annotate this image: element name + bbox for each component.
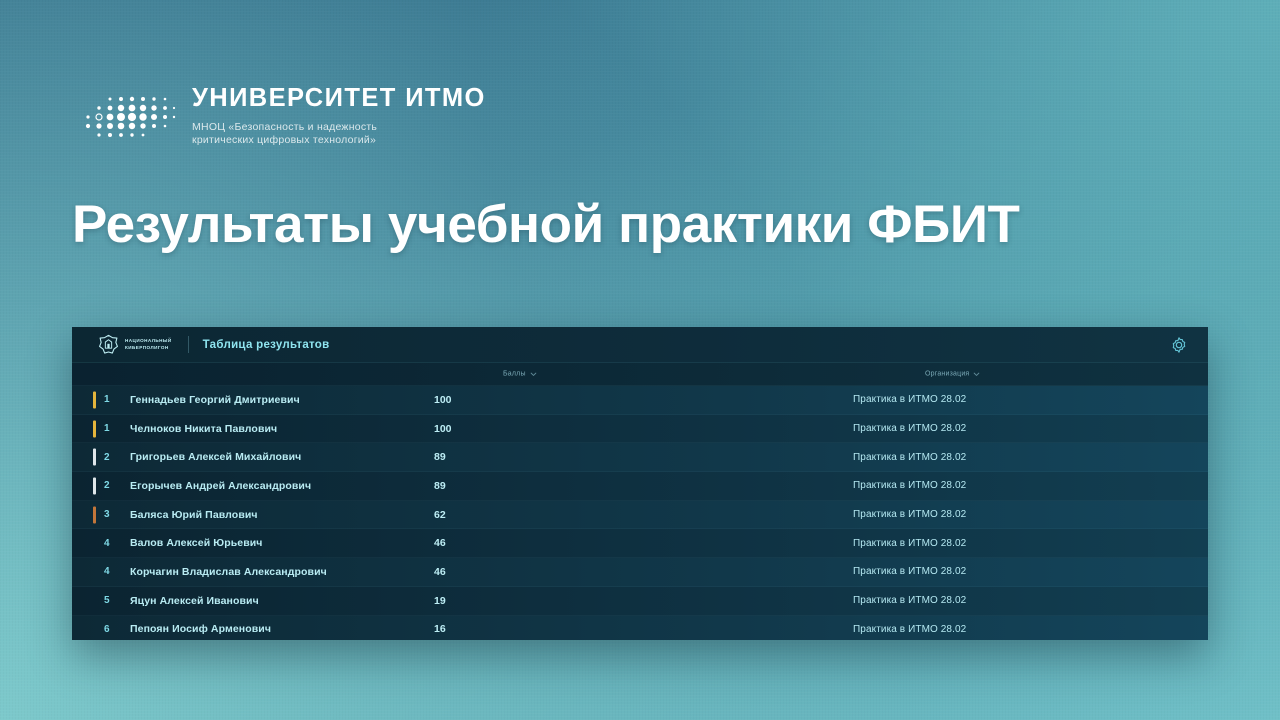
- rank-medal-bar: [93, 449, 96, 466]
- table-row[interactable]: 6Пепоян Иосиф Арменович16Практика в ИТМО…: [72, 616, 1208, 641]
- rank-medal-bar: [93, 391, 96, 408]
- cell-organization: Практика в ИТМО 28.02: [853, 595, 966, 606]
- cell-organization: Практика в ИТМО 28.02: [853, 394, 966, 405]
- table-row[interactable]: 1Геннадьев Георгий Дмитриевич100Практика…: [72, 386, 1208, 415]
- table-row[interactable]: 1Челноков Никита Павлович100Практика в И…: [72, 415, 1208, 444]
- table-row[interactable]: 2Егорычев Андрей Александрович89Практика…: [72, 472, 1208, 501]
- cell-participant: Челноков Никита Павлович: [130, 423, 277, 435]
- sort-chevron-icon: [530, 371, 537, 378]
- cell-score: 62: [434, 509, 446, 521]
- itmo-dot-matrix-logo: [80, 86, 178, 144]
- table-row[interactable]: 5Яцун Алексей Иванович19Практика в ИТМО …: [72, 587, 1208, 616]
- cell-score: 89: [434, 480, 446, 492]
- cell-rank: 1: [104, 394, 110, 405]
- cell-score: 19: [434, 595, 446, 607]
- cell-organization: Практика в ИТМО 28.02: [853, 509, 966, 520]
- cell-participant: Баляса Юрий Павлович: [130, 509, 258, 521]
- panel-title: Таблица результатов: [203, 339, 330, 351]
- cell-organization: Практика в ИТМО 28.02: [853, 480, 966, 491]
- cell-organization: Практика в ИТМО 28.02: [853, 452, 966, 463]
- rank-medal-bar: [93, 477, 96, 494]
- rank-medal-bar: [93, 420, 96, 437]
- rank-medal-bar: [93, 535, 96, 552]
- cell-score: 100: [434, 394, 452, 406]
- cell-organization: Практика в ИТМО 28.02: [853, 624, 966, 635]
- cell-rank: 2: [104, 480, 110, 491]
- topbar-divider: [188, 336, 189, 353]
- column-header-organization[interactable]: Организация: [925, 371, 980, 378]
- cell-rank: 2: [104, 452, 110, 463]
- cell-score: 46: [434, 566, 446, 578]
- gear-icon[interactable]: [1170, 336, 1188, 354]
- results-table-panel: НАЦИОНАЛЬНЫЙ КИБЕРПОЛИГОН Таблица резуль…: [72, 327, 1208, 640]
- column-header-score[interactable]: Баллы: [503, 371, 537, 378]
- cell-rank: 3: [104, 509, 110, 520]
- cell-score: 16: [434, 623, 446, 635]
- cell-participant: Геннадьев Георгий Дмитриевич: [130, 394, 300, 406]
- table-row[interactable]: 3Баляса Юрий Павлович62Практика в ИТМО 2…: [72, 501, 1208, 530]
- cell-rank: 6: [104, 624, 110, 635]
- table-row[interactable]: 4Валов Алексей Юрьевич46Практика в ИТМО …: [72, 529, 1208, 558]
- cell-rank: 4: [104, 566, 110, 577]
- cell-organization: Практика в ИТМО 28.02: [853, 538, 966, 549]
- table-column-headers: Баллы Организация: [72, 363, 1208, 386]
- sort-chevron-icon: [973, 371, 980, 378]
- cell-participant: Григорьев Алексей Михайлович: [130, 451, 301, 463]
- results-table-body: 1Геннадьев Георгий Дмитриевич100Практика…: [72, 386, 1208, 640]
- itmo-wordmark: УНИВЕРСИТЕТ ИТМО: [192, 86, 486, 112]
- cell-score: 46: [434, 537, 446, 549]
- cyber-range-logo: НАЦИОНАЛЬНЫЙ КИБЕРПОЛИГОН: [98, 334, 172, 355]
- cyber-range-name-line1: НАЦИОНАЛЬНЫЙ: [125, 338, 172, 345]
- rank-medal-bar: [93, 592, 96, 609]
- page-title: Результаты учебной практики ФБИТ: [72, 196, 1220, 253]
- cyber-range-shield-icon: [98, 334, 119, 355]
- cell-participant: Яцун Алексей Иванович: [130, 595, 259, 607]
- cell-rank: 5: [104, 595, 110, 606]
- cell-participant: Валов Алексей Юрьевич: [130, 537, 263, 549]
- column-header-organization-label: Организация: [925, 371, 969, 378]
- cell-rank: 1: [104, 423, 110, 434]
- itmo-subtitle: МНОЦ «Безопасность и надежность критичес…: [192, 121, 442, 149]
- cell-participant: Пепоян Иосиф Арменович: [130, 623, 271, 635]
- cell-organization: Практика в ИТМО 28.02: [853, 423, 966, 434]
- rank-medal-bar: [93, 621, 96, 638]
- table-row[interactable]: 2Григорьев Алексей Михайлович89Практика …: [72, 443, 1208, 472]
- panel-topbar: НАЦИОНАЛЬНЫЙ КИБЕРПОЛИГОН Таблица резуль…: [72, 327, 1208, 363]
- itmo-branding: УНИВЕРСИТЕТ ИТМО МНОЦ «Безопасность и на…: [80, 82, 486, 148]
- cell-participant: Корчагин Владислав Александрович: [130, 566, 327, 578]
- cell-score: 89: [434, 451, 446, 463]
- rank-medal-bar: [93, 563, 96, 580]
- cell-rank: 4: [104, 538, 110, 549]
- cyber-range-name: НАЦИОНАЛЬНЫЙ КИБЕРПОЛИГОН: [125, 338, 172, 351]
- column-header-score-label: Баллы: [503, 371, 526, 378]
- cyber-range-name-line2: КИБЕРПОЛИГОН: [125, 345, 172, 352]
- rank-medal-bar: [93, 506, 96, 523]
- cell-participant: Егорычев Андрей Александрович: [130, 480, 311, 492]
- cell-organization: Практика в ИТМО 28.02: [853, 566, 966, 577]
- table-row[interactable]: 4Корчагин Владислав Александрович46Практ…: [72, 558, 1208, 587]
- cell-score: 100: [434, 423, 452, 435]
